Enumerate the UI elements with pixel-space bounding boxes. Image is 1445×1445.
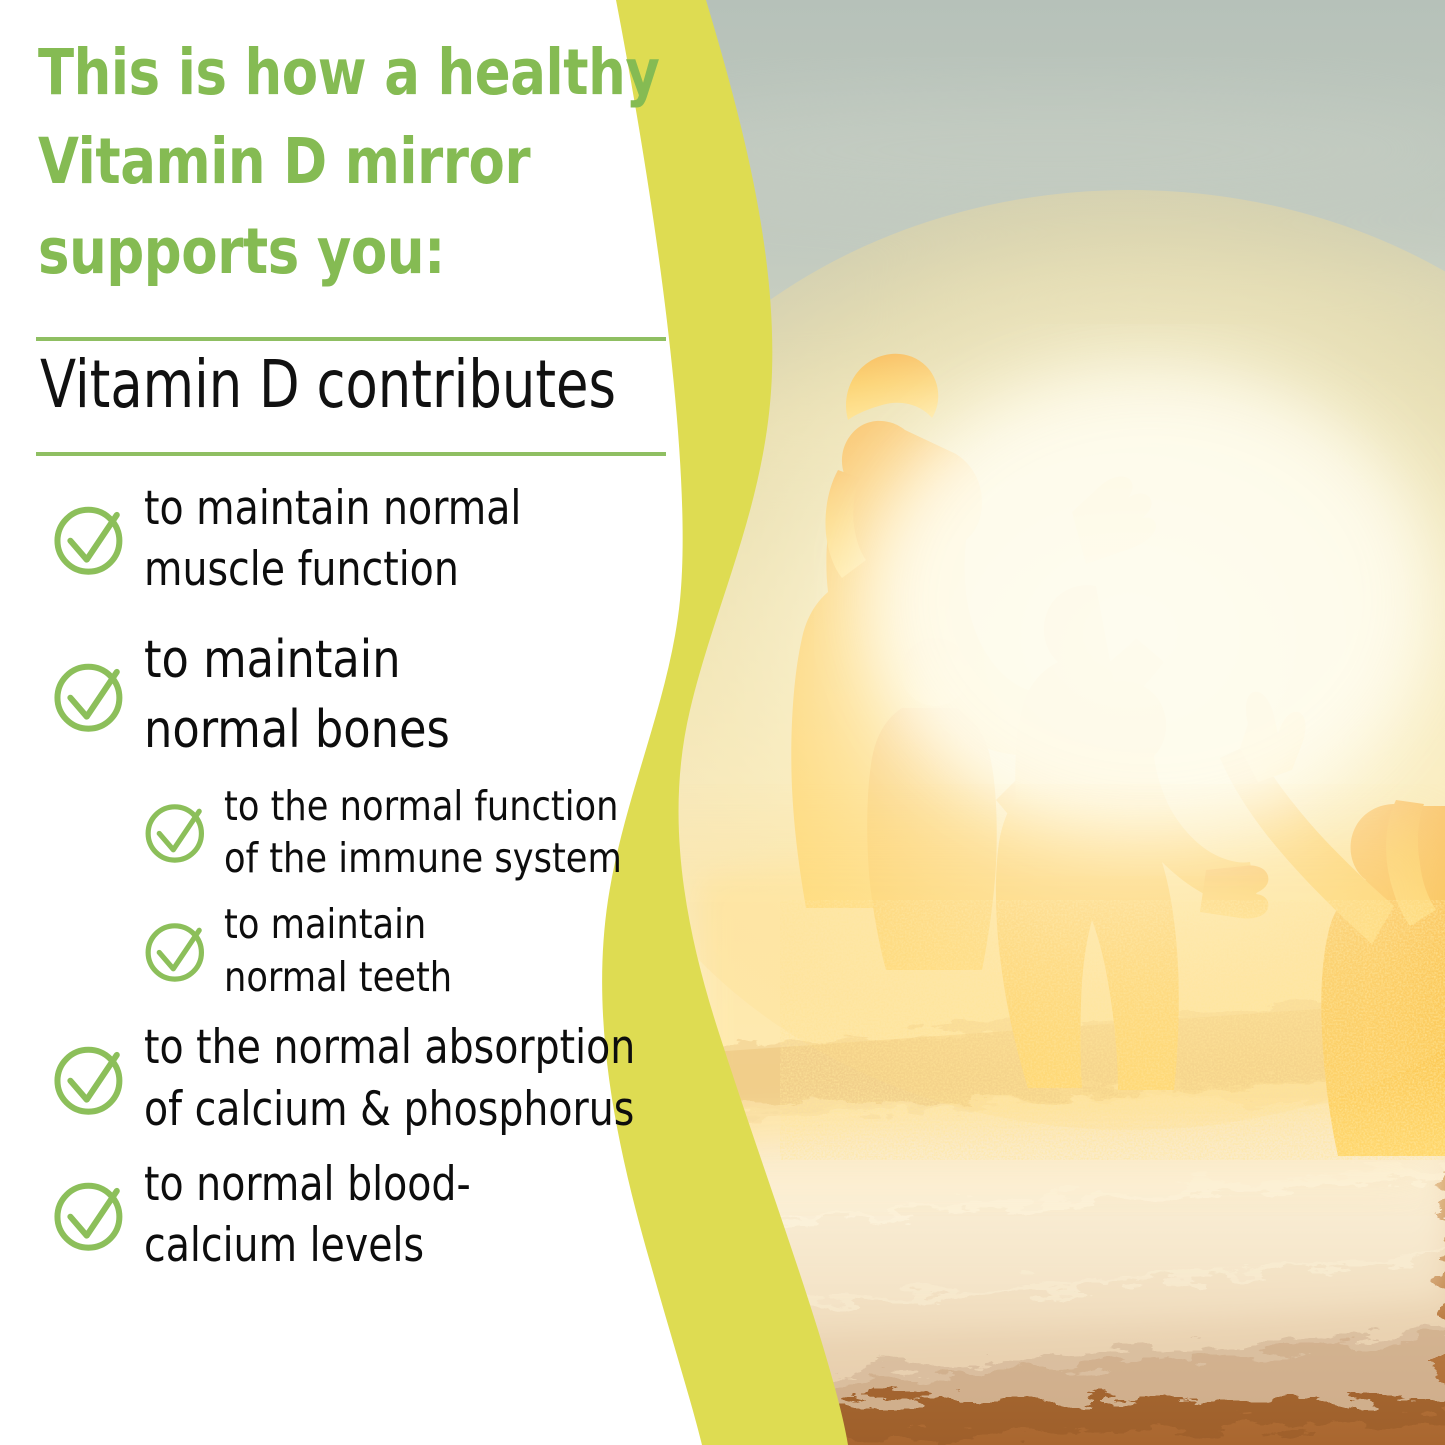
- list-item: to the normal absorption of calcium & ph…: [0, 1017, 790, 1139]
- list-gap: [0, 766, 790, 780]
- list-item-line: normal bones: [144, 696, 450, 766]
- list-item-line: to normal blood-: [144, 1154, 471, 1215]
- list-item-line: to maintain: [224, 898, 452, 950]
- headline-line-3: supports you:: [38, 207, 626, 296]
- list-item-line: to maintain normal: [144, 478, 521, 539]
- check-circle-icon: [48, 496, 134, 582]
- vitamin-d-infographic-poster: This is how a healthy Vitamin D mirror s…: [0, 0, 1445, 1445]
- list-gap: [0, 600, 790, 626]
- list-gap: [0, 884, 790, 898]
- divider-rule-bottom: [36, 452, 666, 456]
- list-gap: [0, 1003, 790, 1017]
- check-circle-icon: [48, 1172, 134, 1258]
- list-item-label: to the normal function of the immune sys…: [224, 780, 622, 885]
- list-item-label: to the normal absorption of calcium & ph…: [144, 1017, 635, 1139]
- list-item-label: to normal blood- calcium levels: [144, 1154, 471, 1276]
- headline-line-1: This is how a healthy: [38, 28, 626, 117]
- check-circle-icon: [48, 1036, 134, 1122]
- list-item-label: to maintain normal teeth: [224, 898, 452, 1003]
- list-item-line: to maintain: [144, 626, 450, 696]
- check-circle-icon: [140, 795, 214, 869]
- list-item: to the normal function of the immune sys…: [0, 780, 790, 885]
- list-item-label: to maintain normal muscle function: [144, 478, 521, 600]
- headline-line-2: Vitamin D mirror: [38, 117, 626, 206]
- list-gap: [0, 1140, 790, 1154]
- text-column: This is how a healthy Vitamin D mirror s…: [0, 0, 790, 1445]
- list-item: to maintain normal muscle function: [0, 478, 790, 600]
- section-subheading: Vitamin D contributes: [40, 352, 616, 418]
- check-circle-icon: [140, 914, 214, 988]
- list-item-line: to the normal absorption: [144, 1017, 635, 1078]
- list-item-line: calcium levels: [144, 1215, 471, 1276]
- page-headline: This is how a healthy Vitamin D mirror s…: [38, 28, 626, 296]
- list-item: to maintain normal teeth: [0, 898, 790, 1003]
- list-item: to maintain normal bones: [0, 626, 790, 765]
- list-item-label: to maintain normal bones: [144, 626, 450, 765]
- list-item-line: of calcium & phosphorus: [144, 1079, 635, 1140]
- divider-rule-top: [36, 337, 666, 341]
- list-item: to normal blood- calcium levels: [0, 1154, 790, 1276]
- list-item-line: of the immune system: [224, 832, 622, 884]
- check-circle-icon: [48, 653, 134, 739]
- list-item-line: normal teeth: [224, 951, 452, 1003]
- benefits-list: to maintain normal muscle function to ma…: [0, 478, 790, 1276]
- sun-core: [870, 370, 1430, 830]
- list-item-line: muscle function: [144, 539, 521, 600]
- list-item-line: to the normal function: [224, 780, 622, 832]
